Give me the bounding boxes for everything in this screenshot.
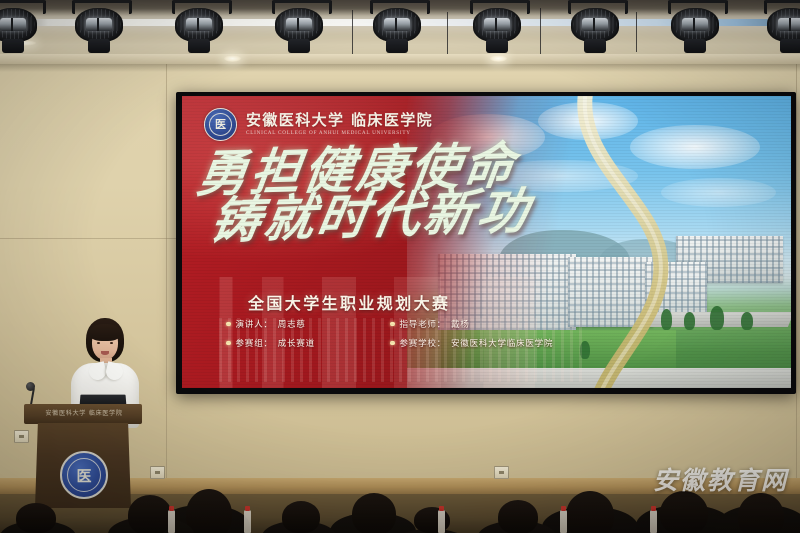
led-screen: 医 安徽医科大学 临床医学院 CLINICAL COLLEGE OF ANHUI…	[182, 96, 791, 388]
meta-advisor-value: 戴杨	[451, 318, 470, 330]
stage-par-light	[566, 0, 624, 58]
light-cable	[352, 10, 353, 54]
light-cable	[636, 12, 637, 52]
tree	[684, 312, 696, 330]
light-cable	[447, 12, 448, 54]
light-tail	[188, 39, 210, 53]
meta-presenter-value: 周志慈	[278, 318, 306, 330]
speaker-eye	[110, 342, 113, 344]
light-tail	[684, 39, 706, 53]
light-tail	[780, 39, 800, 53]
audience-row	[0, 470, 800, 533]
building-windows	[645, 262, 706, 315]
stage-par-light	[0, 0, 42, 58]
stage-par-light	[762, 0, 800, 58]
meta-school-label: 参赛学校：	[400, 337, 446, 349]
slide-institution-lockup: 医 安徽医科大学 临床医学院 CLINICAL COLLEGE OF ANHUI…	[204, 108, 433, 141]
light-lens	[86, 18, 112, 31]
water-bottle	[438, 510, 445, 533]
meta-school: 参赛学校： 安徽医科大学临床医学院	[390, 337, 646, 349]
light-tail	[2, 39, 24, 53]
headline-line-2: 铸就时代新功	[207, 184, 593, 246]
audience-head	[16, 503, 56, 533]
bullet-dot-icon	[390, 341, 395, 346]
lighting-truss	[0, 0, 800, 60]
audience-head	[498, 500, 538, 533]
slide-meta-grid: 演讲人： 周志慈 指导老师： 戴杨 参赛组： 成长赛道 参赛学校： 安徽医科大学…	[226, 318, 646, 349]
screenshot-root: 医 安徽医科大学 临床医学院 CLINICAL COLLEGE OF ANHUI…	[0, 0, 800, 533]
meta-advisor-label: 指导老师：	[400, 318, 446, 330]
audience-head	[352, 493, 396, 533]
stage-par-light	[666, 0, 724, 58]
light-tail	[88, 39, 110, 53]
stage-par-light	[170, 0, 228, 58]
wall-seam-vertical-right	[796, 58, 797, 478]
lectern-label: 安徽医科大学 临床医学院	[38, 408, 130, 417]
meta-presenter-label: 演讲人：	[236, 318, 273, 330]
light-lens	[778, 18, 800, 31]
emblem-character: 医	[205, 109, 236, 140]
audience-head	[186, 489, 232, 533]
cloud	[630, 125, 760, 169]
university-emblem-icon: 医	[204, 108, 237, 141]
audience-head	[660, 491, 708, 533]
stage-par-light	[468, 0, 526, 58]
water-bottle	[168, 510, 175, 533]
light-lens	[484, 18, 510, 31]
tree	[661, 309, 673, 329]
institution-name-cn: 安徽医科大学 临床医学院	[246, 113, 433, 129]
water-bottle	[244, 510, 251, 533]
tree	[741, 312, 753, 330]
light-lens	[286, 18, 312, 31]
light-tail	[584, 39, 606, 53]
audience-head	[738, 493, 784, 533]
light-cable	[540, 8, 541, 54]
meta-presenter: 演讲人： 周志慈	[226, 318, 376, 330]
light-tail	[288, 39, 310, 53]
bullet-dot-icon	[226, 322, 231, 327]
stage-par-light	[368, 0, 426, 58]
meta-group-label: 参赛组：	[236, 337, 273, 349]
meta-school-value: 安徽医科大学临床医学院	[451, 337, 553, 349]
water-bottle	[650, 510, 657, 533]
institution-name-block: 安徽医科大学 临床医学院 CLINICAL COLLEGE OF ANHUI M…	[246, 113, 433, 137]
light-lens	[0, 18, 26, 31]
light-lens	[582, 18, 608, 31]
meta-group-value: 成长赛道	[278, 337, 315, 349]
tree	[710, 306, 723, 329]
water-bottle	[560, 510, 567, 533]
stage-par-light	[70, 0, 128, 58]
microphone-icon	[26, 382, 35, 391]
slide-subtitle: 全国大学生职业规划大赛	[248, 290, 450, 314]
cloud	[661, 178, 776, 207]
audience-head	[566, 491, 614, 533]
light-tail	[386, 39, 408, 53]
bullet-dot-icon	[226, 341, 231, 346]
meta-group: 参赛组： 成长赛道	[226, 337, 376, 349]
institution-name-en: CLINICAL COLLEGE OF ANHUI MEDICAL UNIVER…	[246, 130, 433, 136]
wall-seam-vertical	[166, 58, 167, 478]
stage-par-light	[270, 0, 328, 58]
speaker-eye	[97, 342, 100, 344]
audience-head	[282, 501, 320, 533]
wall-seam	[0, 238, 180, 239]
light-lens	[384, 18, 410, 31]
audience-head	[128, 495, 172, 533]
light-tail	[486, 39, 508, 53]
slide-headline: 勇担健康使命 铸就时代新功	[198, 144, 588, 240]
speaker-mouth	[101, 351, 109, 355]
meta-advisor: 指导老师： 戴杨	[390, 318, 646, 330]
light-lens	[186, 18, 212, 31]
campus-building	[645, 262, 706, 315]
bullet-dot-icon	[390, 322, 395, 327]
cloud	[538, 102, 638, 140]
light-lens	[682, 18, 708, 31]
speaker-fringe	[89, 324, 121, 341]
